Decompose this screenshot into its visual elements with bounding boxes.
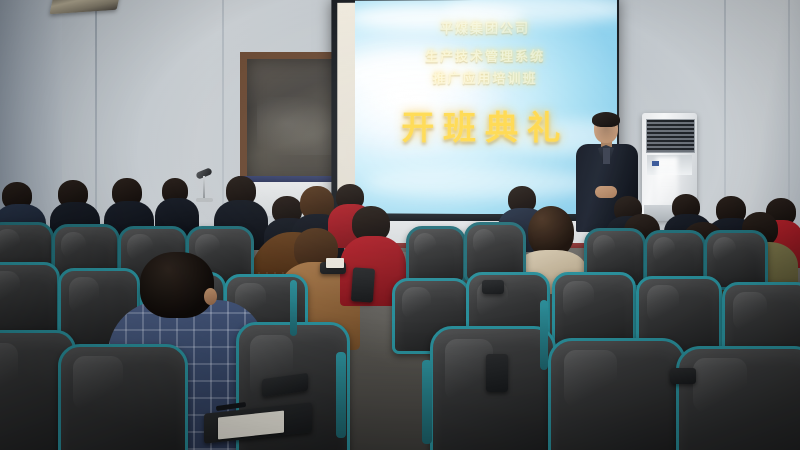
auditorium-seat[interactable] xyxy=(676,346,800,450)
air-conditioner-grille xyxy=(646,119,695,153)
photo-scene: 平煤集团公司 生产技术管理系统 推广应用培训班 开班典礼 xyxy=(0,0,800,450)
presenter-hands xyxy=(595,186,617,198)
auditorium-seat[interactable] xyxy=(0,262,60,340)
chalk-smudge xyxy=(257,97,340,155)
paper-sheet[interactable] xyxy=(326,258,344,268)
slide-line-3: 推广应用培训班 xyxy=(433,68,538,87)
seat-arm xyxy=(540,300,548,370)
slide-title: 开班典礼 xyxy=(401,101,569,149)
auditorium-seat[interactable] xyxy=(548,338,686,450)
seat-arm xyxy=(422,360,432,444)
presenter-shirt xyxy=(603,148,610,164)
fold-out-desk[interactable] xyxy=(482,280,504,294)
seat-arm xyxy=(290,280,297,336)
auditorium-seat[interactable] xyxy=(58,344,188,450)
presenter-face xyxy=(594,125,618,141)
audience-head xyxy=(140,252,214,318)
audience-ear xyxy=(204,288,217,305)
slide-line-1: 平煤集团公司 xyxy=(440,18,530,37)
fold-out-desk[interactable] xyxy=(351,267,375,302)
air-conditioner-display xyxy=(652,161,659,166)
auditorium-seat[interactable] xyxy=(406,226,466,284)
microphone-stand xyxy=(203,176,205,200)
seat-arm xyxy=(336,352,346,438)
slide-line-2: 生产技术管理系统 xyxy=(425,46,545,65)
fold-out-desk[interactable] xyxy=(670,368,696,384)
microphone-base xyxy=(196,198,213,202)
fold-out-desk[interactable] xyxy=(486,354,508,392)
